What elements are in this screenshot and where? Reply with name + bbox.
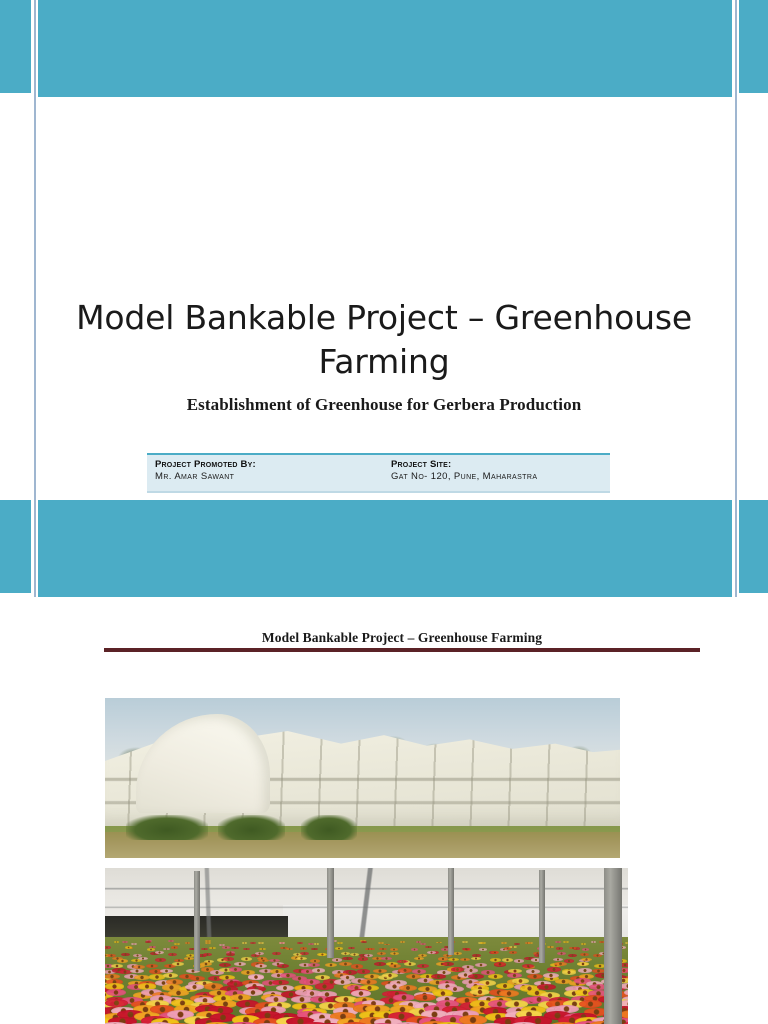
gerbera-bloom — [205, 940, 211, 942]
gerbera-bloom — [155, 951, 164, 954]
gerbera-bloom — [248, 974, 263, 979]
project-promoted-by-value: Mr. Amar Sawant — [155, 471, 383, 483]
foreground-bush — [126, 815, 208, 841]
gerbera-bloom — [460, 958, 471, 962]
gerbera-bloom — [308, 943, 314, 945]
gerbera-bloom — [453, 952, 462, 955]
gerbera-bloom — [155, 958, 166, 962]
project-site-cell: Project Site: Gat No- 120, Pune, Maharas… — [383, 455, 610, 491]
gerbera-bloom — [591, 941, 597, 943]
gerbera-bloom — [459, 1015, 487, 1024]
gerbera-bloom — [382, 973, 397, 978]
gerbera-bloom — [381, 957, 392, 961]
gerbera-bloom — [325, 963, 337, 967]
gerbera-bloom — [168, 953, 177, 956]
gerbera-field-interior-photo: Interior of greenhouse with rows of yell… — [105, 868, 628, 1024]
gerbera-bloom — [311, 948, 318, 950]
gerbera-bloom — [438, 957, 449, 961]
gerbera-bloom — [255, 964, 267, 968]
gerbera-bloom — [341, 952, 350, 955]
gerbera-bloom — [335, 947, 342, 949]
gerbera-bloom — [509, 946, 516, 948]
gerbera-bloom — [279, 942, 285, 944]
cover-page: Model Bankable Project – Greenhouse Farm… — [0, 0, 768, 597]
gerbera-bloom — [547, 946, 554, 948]
gerbera-bloom — [134, 975, 149, 980]
gerbera-bloom — [582, 948, 589, 950]
gerbera-bloom — [365, 948, 372, 950]
project-site-label: Project Site: — [391, 459, 610, 471]
gerbera-bloom — [475, 963, 487, 967]
gerbera-bloom — [569, 947, 576, 949]
decorative-band-top-right — [739, 0, 768, 93]
gerbera-bloom — [185, 984, 204, 990]
gerbera-bloom — [462, 941, 468, 943]
gerbera-bloom — [527, 974, 542, 979]
gerbera-bloom — [234, 962, 246, 966]
gerbera-bloom — [312, 968, 326, 973]
gerbera-bloom — [499, 990, 519, 997]
gerbera-bloom — [451, 967, 465, 972]
gerbera-bloom — [358, 957, 369, 961]
decorative-band-top-left — [0, 0, 31, 93]
gerbera-bloom — [577, 962, 589, 966]
gerbera-bloom — [547, 967, 561, 972]
gerbera-bloom — [525, 942, 531, 944]
gerbera-bloom — [121, 953, 130, 956]
decorative-band-top-main — [38, 0, 732, 97]
gerbera-bloom — [580, 953, 589, 956]
foreground-bush — [301, 815, 358, 841]
gerbera-bloom — [222, 946, 229, 948]
gerbera-bloom — [300, 952, 309, 955]
gerbera-bloom — [117, 959, 128, 963]
gerbera-bloom — [342, 957, 353, 961]
cover-title-block: Model Bankable Project – Greenhouse Farm… — [60, 296, 708, 415]
gerbera-bloom — [625, 942, 628, 944]
gerbera-bloom — [272, 952, 281, 955]
gerbera-bloom — [578, 968, 592, 973]
gerbera-bloom — [226, 953, 235, 956]
gerbera-bloom — [277, 964, 289, 968]
gerbera-bloom — [200, 962, 212, 966]
gerbera-bloom — [130, 969, 144, 974]
gerbera-bloom — [203, 953, 212, 956]
support-post — [539, 870, 545, 964]
gerbera-bloom — [219, 963, 231, 967]
gerbera-bloom — [436, 942, 442, 944]
gerbera-bloom — [201, 948, 208, 950]
gerbera-bloom — [502, 958, 513, 962]
gerbera-bloom — [412, 969, 426, 974]
gerbera-bloom — [171, 946, 178, 948]
gerbera-bloom — [174, 943, 180, 945]
gerbera-bloom — [122, 941, 128, 943]
gerbera-bloom — [414, 994, 436, 1001]
gerbera-bloom — [378, 942, 384, 944]
project-promoted-by-cell: Project Promoted By: Mr. Amar Sawant — [147, 455, 383, 491]
gerbera-bloom — [400, 941, 406, 943]
foreground-bush — [218, 815, 285, 841]
gerbera-bloom — [163, 948, 170, 950]
gerbera-bloom — [258, 942, 264, 944]
gerbera-bloom — [480, 942, 486, 944]
gerbera-bloom — [209, 947, 216, 949]
gerbera-bloom — [351, 964, 363, 968]
gerbera-bloom — [374, 962, 386, 966]
project-info-table: Project Promoted By: Mr. Amar Sawant Pro… — [147, 453, 610, 493]
gerbera-bloom — [168, 940, 174, 942]
gerbera-bloom — [398, 968, 412, 973]
gerbera-bloom — [379, 948, 386, 950]
greenhouse-exterior-photo: Exterior view of white polyhouse greenho… — [105, 698, 620, 858]
gerbera-bloom — [223, 957, 234, 961]
gerbera-bloom — [308, 963, 320, 967]
gerbera-bloom — [389, 964, 401, 968]
gerbera-bloom — [414, 957, 425, 961]
gerbera-bloom — [479, 948, 486, 950]
gerbera-bloom — [231, 947, 238, 949]
gerbera-bloom — [339, 962, 351, 966]
greenhouse-roof-struts — [105, 868, 628, 940]
gerbera-bloom — [488, 974, 503, 979]
gerbera-bloom — [555, 941, 561, 943]
gerbera-bloom — [332, 958, 343, 962]
gerbera-bloom — [131, 943, 137, 945]
gerbera-bloom — [579, 1000, 602, 1008]
gerbera-bloom — [553, 958, 564, 962]
gerbera-bloom — [361, 941, 367, 943]
running-header-text: Model Bankable Project – Greenhouse Farm… — [262, 630, 542, 645]
gerbera-bloom — [185, 942, 191, 944]
gerbera-bloom — [417, 964, 429, 968]
gerbera-bloom — [514, 943, 520, 945]
project-promoted-by-label: Project Promoted By: — [155, 459, 383, 471]
gerbera-bloom — [348, 947, 355, 949]
page-border-rule-left — [34, 0, 36, 597]
gerbera-bloom — [184, 957, 195, 961]
gerbera-blooms — [105, 937, 628, 1024]
gerbera-bloom — [350, 953, 359, 956]
gerbera-bloom — [563, 941, 569, 943]
header-divider-rule — [104, 648, 700, 652]
gerbera-bloom — [257, 957, 268, 961]
gerbera-bloom — [147, 948, 154, 950]
gerbera-bloom — [543, 973, 558, 978]
gerbera-bloom — [241, 957, 252, 961]
gerbera-bloom — [556, 947, 563, 949]
page-title: Model Bankable Project – Greenhouse Farm… — [60, 296, 708, 383]
gerbera-bloom — [286, 948, 293, 950]
gerbera-bloom — [431, 974, 446, 979]
gerbera-bloom — [557, 952, 566, 955]
gerbera-bloom — [296, 957, 307, 961]
gerbera-bloom — [114, 941, 120, 943]
support-post-foreground — [604, 868, 622, 1024]
gerbera-bloom — [168, 990, 188, 997]
page-subtitle: Establishment of Greenhouse for Gerbera … — [60, 395, 708, 415]
gerbera-bloom — [259, 948, 266, 950]
gerbera-bloom — [522, 964, 534, 968]
gerbera-bloom — [526, 969, 540, 974]
gerbera-bloom — [390, 952, 399, 955]
content-page: Model Bankable Project – Greenhouse Farm… — [0, 597, 768, 1024]
gerbera-bloom — [442, 962, 454, 966]
gerbera-bloom — [297, 942, 303, 944]
decorative-band-bottom-right — [739, 500, 768, 593]
gerbera-bloom — [425, 946, 432, 948]
gerbera-bloom — [448, 958, 459, 962]
gerbera-bloom — [562, 970, 576, 975]
gerbera-bloom — [514, 959, 525, 963]
project-site-value: Gat No- 120, Pune, Maharastra — [391, 471, 610, 483]
gerbera-bloom — [568, 954, 577, 957]
gerbera-bloom — [360, 979, 377, 985]
gerbera-bloom — [276, 985, 295, 991]
gerbera-bloom — [384, 944, 390, 946]
gerbera-bloom — [470, 989, 490, 996]
gerbera-bloom — [420, 943, 426, 945]
page-border-rule-right — [735, 0, 737, 597]
gerbera-bloom — [250, 942, 256, 944]
gerbera-bloom — [427, 951, 436, 954]
gerbera-bloom — [205, 942, 211, 944]
gerbera-bloom — [146, 964, 158, 968]
gerbera-bloom — [404, 962, 416, 966]
running-header: Model Bankable Project – Greenhouse Farm… — [104, 629, 700, 647]
gerbera-bloom — [145, 941, 151, 943]
decorative-band-bottom-main — [38, 500, 732, 597]
support-post — [448, 868, 455, 955]
gerbera-bloom — [509, 951, 518, 954]
decorative-band-bottom-left — [0, 500, 31, 593]
gerbera-bloom — [399, 985, 418, 991]
gerbera-bloom — [390, 948, 397, 950]
gerbera-bloom — [507, 973, 522, 978]
support-post — [327, 868, 333, 958]
gerbera-bloom — [105, 946, 111, 948]
gerbera-bloom — [314, 943, 320, 945]
gerbera-bloom — [337, 942, 343, 944]
gerbera-bloom — [581, 943, 587, 945]
gerbera-bloom — [242, 942, 248, 944]
gerbera-bloom — [501, 942, 507, 944]
gerbera-bloom — [315, 983, 334, 989]
gerbera-bloom — [537, 984, 556, 990]
gerbera-bloom — [411, 948, 418, 950]
gerbera-bloom — [106, 989, 126, 996]
gerbera-bloom — [163, 973, 178, 978]
gerbera-bloom — [125, 946, 132, 948]
gerbera-bloom — [494, 962, 506, 966]
gerbera-bloom — [300, 947, 307, 949]
support-post — [194, 871, 200, 971]
gerbera-bloom — [471, 957, 482, 961]
gerbera-bloom — [377, 952, 386, 955]
gerbera-bloom — [243, 948, 250, 950]
gerbera-bloom — [318, 953, 327, 956]
